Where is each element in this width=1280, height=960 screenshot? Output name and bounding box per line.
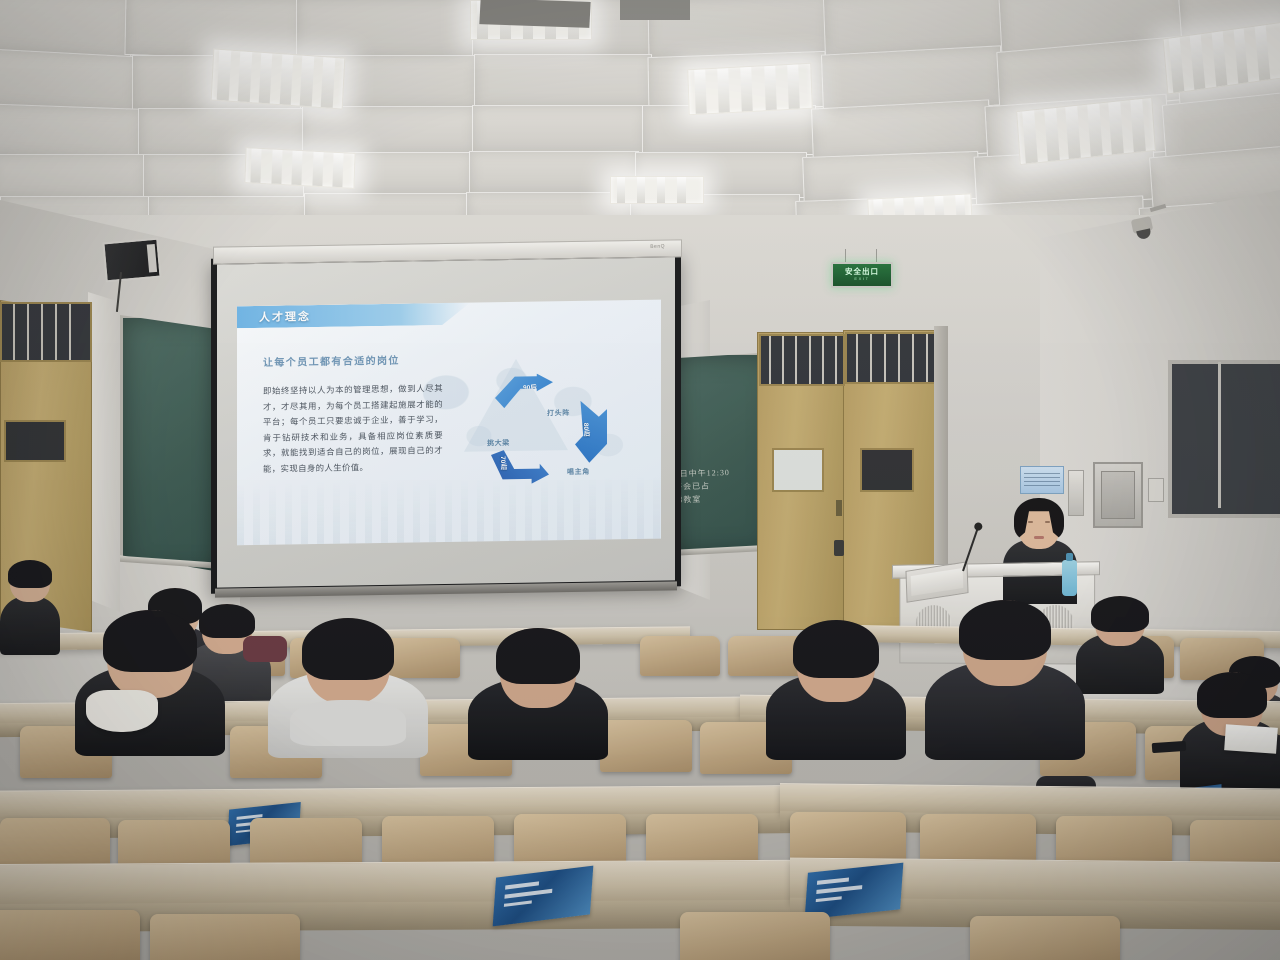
presenter-eye-left bbox=[1028, 521, 1033, 523]
presenter-mouth bbox=[1034, 536, 1044, 539]
presentation-slide: 人才理念 让每个员工都有合适的岗位 即始终坚持以人为本的管理思想，做到人尽其才，… bbox=[237, 300, 661, 546]
exit-sign-chinese: 安全出口 bbox=[845, 268, 879, 276]
door-handle[interactable] bbox=[834, 540, 844, 556]
ceiling-light bbox=[610, 176, 704, 204]
slide-body-text: 即始终坚持以人为本的管理思想，做到人尽其才，才尽其用，为每个员工搭建起施展才能的… bbox=[263, 381, 443, 477]
student bbox=[468, 628, 608, 760]
chair bbox=[640, 636, 720, 676]
student bbox=[925, 600, 1085, 760]
face-mask bbox=[86, 690, 158, 732]
diagram-label-70s: 挑大梁 bbox=[487, 438, 510, 448]
security-camera-icon bbox=[1131, 216, 1153, 234]
exit-sign-rod bbox=[876, 249, 877, 263]
chair bbox=[150, 914, 300, 960]
chair bbox=[600, 720, 692, 772]
electrical-panel bbox=[1093, 462, 1143, 528]
wall-notice-sign bbox=[1020, 466, 1064, 494]
lecture-hall-photo: 9月12日中午12:30 班级将会已占 小阶梯教室 BenQ 人才理念 让每个员… bbox=[0, 0, 1280, 960]
ceiling-void bbox=[620, 0, 690, 20]
water-bottle bbox=[1062, 560, 1077, 596]
door-right-window-2 bbox=[860, 448, 914, 492]
diagram-label-90s: 打头阵 bbox=[547, 408, 570, 418]
emergency-exit-sign: 安全出口 EXIT bbox=[831, 262, 893, 288]
projector-screen: 人才理念 让每个员工都有合适的岗位 即始终坚持以人为本的管理思想，做到人尽其才，… bbox=[211, 251, 681, 593]
ceiling-light bbox=[244, 147, 355, 189]
diagram-arrow-80s-badge: 80后 bbox=[582, 423, 589, 437]
door-left-window bbox=[4, 420, 66, 462]
window-bar bbox=[1218, 362, 1221, 508]
student bbox=[766, 620, 906, 760]
diagram-arrow-90s: 90后 bbox=[495, 373, 553, 408]
chair bbox=[0, 910, 140, 960]
exit-sign-english: EXIT bbox=[854, 276, 869, 282]
diagram-arrow-90s-badge: 90后 bbox=[523, 385, 537, 392]
wall-pillar bbox=[88, 292, 120, 612]
door-latch[interactable] bbox=[836, 500, 842, 516]
student bbox=[0, 560, 60, 655]
ceiling-light bbox=[687, 63, 813, 115]
door-right-transom-1 bbox=[759, 334, 845, 386]
student bbox=[1076, 596, 1164, 694]
exit-sign-rod bbox=[845, 249, 846, 263]
door-left-transom bbox=[0, 302, 92, 362]
ceiling-void bbox=[479, 0, 590, 28]
diagram-arrow-70s-badge: 70后 bbox=[499, 456, 506, 470]
chair bbox=[680, 912, 830, 960]
wall-speaker bbox=[102, 238, 161, 283]
chair bbox=[970, 916, 1120, 960]
door-right-transom-2 bbox=[845, 332, 937, 384]
hoodie-hood bbox=[290, 700, 406, 746]
paper-sheet[interactable] bbox=[1224, 724, 1278, 754]
window-right bbox=[1168, 360, 1280, 518]
presenter-eye-right bbox=[1045, 521, 1050, 523]
slide-title-banner: 人才理念 bbox=[237, 303, 470, 329]
door-right-window-1 bbox=[772, 448, 824, 492]
slide-title: 人才理念 bbox=[259, 308, 311, 325]
ceiling-light bbox=[211, 48, 346, 109]
diagram-arrow-70s: 70后 bbox=[491, 449, 549, 484]
slide-diagram: 90后 打头阵 80后 唱主角 70后 挑大梁 bbox=[471, 360, 651, 513]
diagram-arrow-80s: 80后 bbox=[573, 400, 607, 463]
diagram-label-80s: 唱主角 bbox=[567, 467, 590, 477]
student bbox=[75, 610, 225, 756]
wall-switch[interactable] bbox=[1148, 478, 1164, 502]
slide-subtitle: 让每个员工都有合适的岗位 bbox=[263, 352, 400, 369]
ceiling bbox=[0, 0, 1280, 240]
screen-brand-label: BenQ bbox=[650, 244, 665, 250]
wall-fixture bbox=[1068, 470, 1084, 516]
